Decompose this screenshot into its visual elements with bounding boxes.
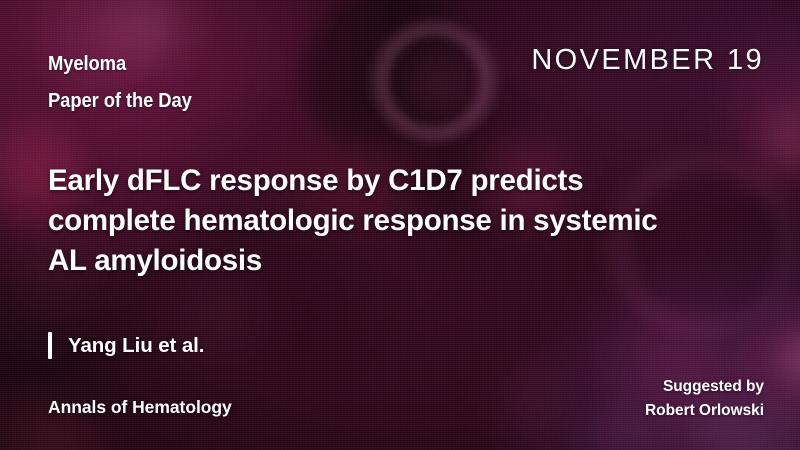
brand-kicker: Myeloma Paper of the Day xyxy=(48,46,192,120)
card-content: Myeloma Paper of the Day NOVEMBER 19 Ear… xyxy=(0,0,800,450)
suggested-by-label: Suggested by xyxy=(645,375,764,399)
paper-title-line-1: Early dFLC response by C1D7 predicts xyxy=(48,161,758,201)
myeloma-paper-of-the-day-card: Myeloma Paper of the Day NOVEMBER 19 Ear… xyxy=(0,0,800,450)
suggested-by-person: Robert Orlowski xyxy=(645,399,764,423)
paper-title-line-2: complete hematologic response in systemi… xyxy=(48,201,758,241)
journal-name: Annals of Hematology xyxy=(48,397,232,418)
brand-kicker-line-1: Myeloma xyxy=(48,46,192,83)
suggested-by-block: Suggested by Robert Orlowski xyxy=(645,375,764,422)
paper-title: Early dFLC response by C1D7 predicts com… xyxy=(48,161,758,281)
date-label: NOVEMBER 19 xyxy=(531,44,764,77)
brand-kicker-line-2: Paper of the Day xyxy=(48,83,192,120)
author-row: Yang Liu et al. xyxy=(48,332,204,359)
paper-title-line-3: AL amyloidosis xyxy=(48,241,758,281)
paper-authors: Yang Liu et al. xyxy=(68,334,204,358)
author-accent-bar xyxy=(48,332,52,359)
